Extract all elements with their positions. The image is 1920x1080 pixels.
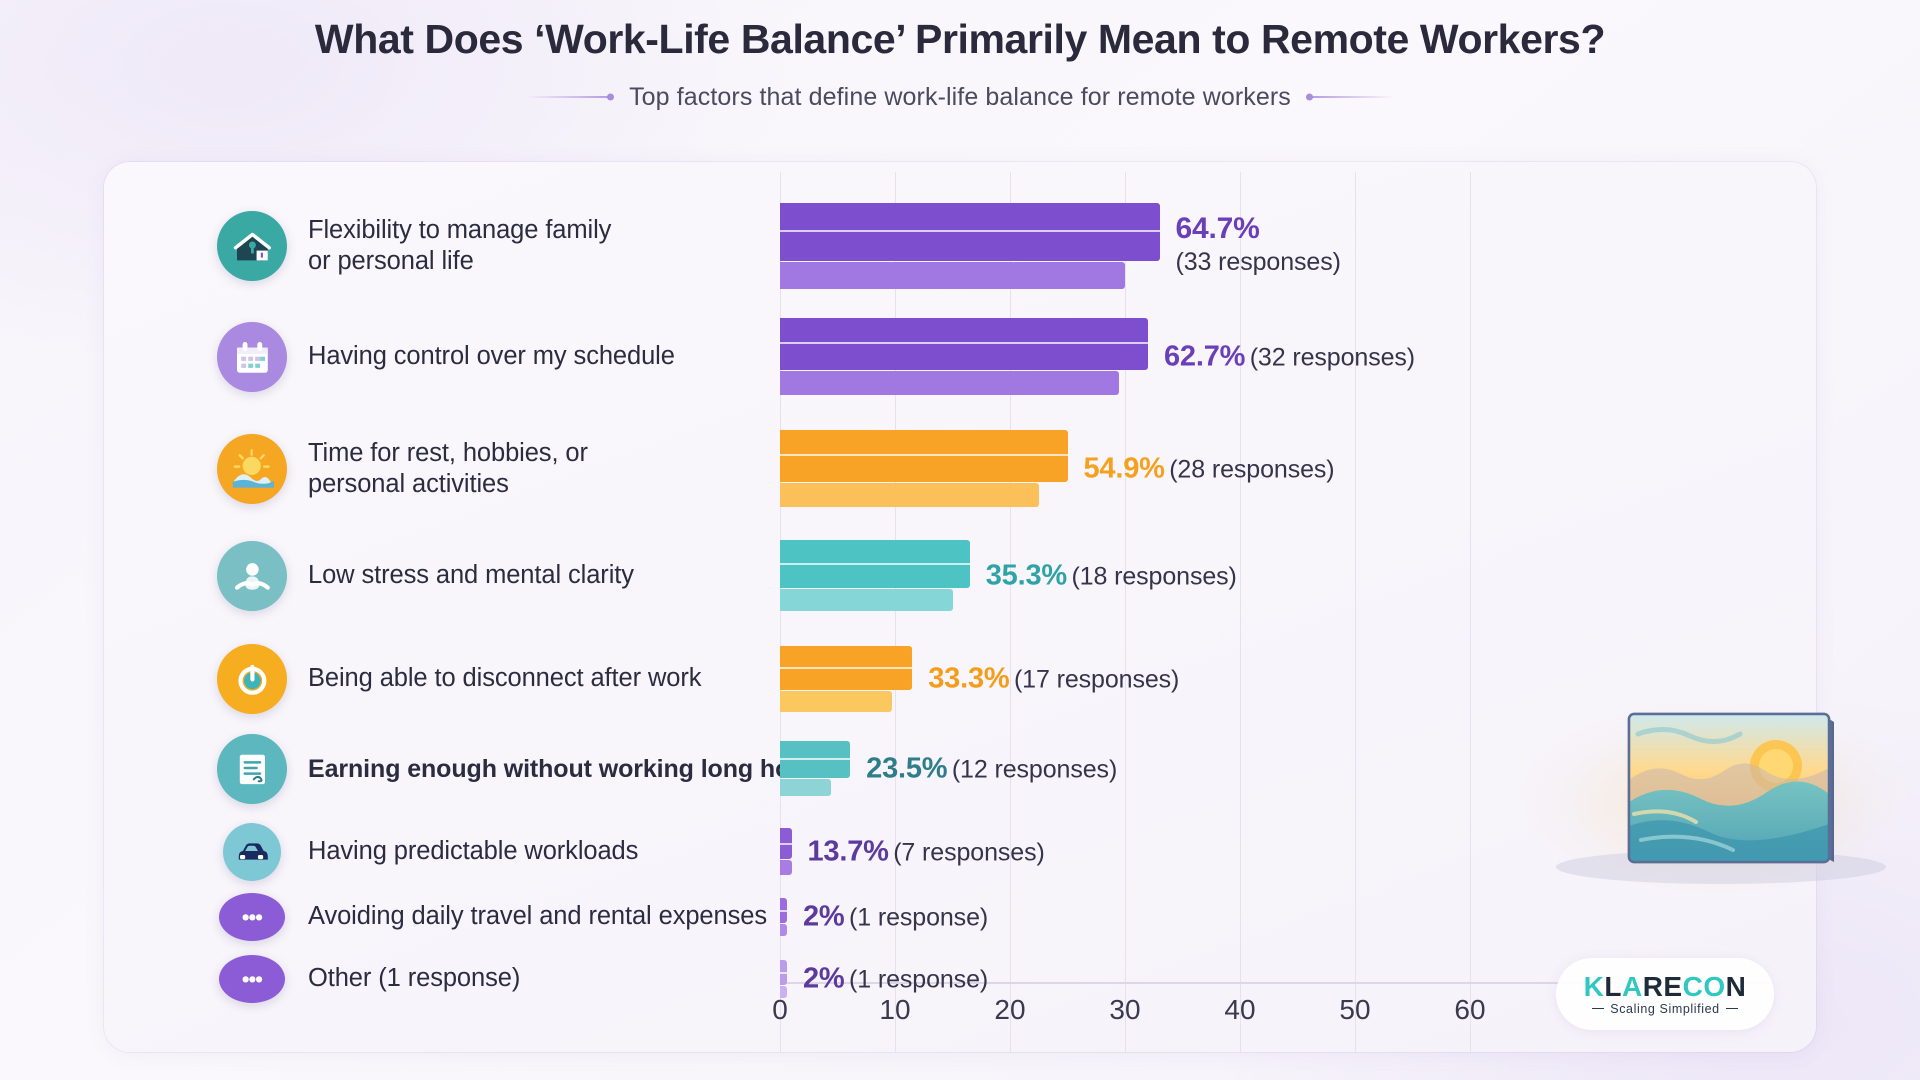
row-icon-wrapper bbox=[216, 738, 288, 800]
bar-secondary bbox=[780, 924, 787, 936]
row-value-label: 2% (1 response) bbox=[803, 901, 988, 934]
power-button-icon bbox=[217, 644, 287, 714]
bar-primary bbox=[780, 318, 1148, 370]
logo-tagline-text: Scaling Simplified bbox=[1610, 1002, 1719, 1016]
chart-subtitle: Top factors that define work-life balanc… bbox=[629, 83, 1291, 112]
row-bar-group bbox=[780, 738, 781, 800]
bar-primary bbox=[780, 430, 1068, 482]
ellipsis-icon bbox=[219, 893, 285, 941]
bar-secondary bbox=[780, 860, 792, 875]
subtitle-rule-left-icon bbox=[525, 96, 611, 98]
bar-split-line-icon bbox=[780, 563, 970, 565]
bar-split-line-icon bbox=[780, 667, 912, 669]
row-bar-group bbox=[780, 826, 781, 878]
chart-row: Avoiding daily travel and rental expense… bbox=[104, 896, 1816, 938]
row-value-label: 62.7% (32 responses) bbox=[1164, 341, 1415, 374]
row-percentage: 2% bbox=[803, 901, 845, 933]
bar-secondary bbox=[780, 691, 892, 712]
row-response-count: (17 responses) bbox=[1014, 666, 1179, 694]
page-title: What Does ‘Work-Life Balance’ Primarily … bbox=[0, 16, 1920, 64]
row-value-label: 23.5% (12 responses) bbox=[866, 753, 1117, 786]
x-axis-tick-20: 20 bbox=[994, 994, 1025, 1026]
row-bar-group bbox=[780, 426, 781, 512]
row-percentage: 33.3% bbox=[928, 663, 1009, 695]
chart-header: What Does ‘Work-Life Balance’ Primarily … bbox=[0, 0, 1920, 112]
row-percentage: 64.7% bbox=[1176, 212, 1341, 246]
row-percentage: 2% bbox=[803, 963, 845, 995]
subtitle-row: Top factors that define work-life balanc… bbox=[0, 83, 1920, 112]
bar-split-line-icon bbox=[780, 910, 787, 912]
row-label: Other (1 response) bbox=[308, 963, 520, 994]
chart-row: Flexibility to manage family or personal… bbox=[104, 198, 1816, 294]
row-label: Time for rest, hobbies, or personal acti… bbox=[308, 438, 588, 500]
bar-secondary bbox=[780, 483, 1039, 507]
row-value-label: 13.7% (7 responses) bbox=[808, 836, 1045, 869]
row-response-count: (32 responses) bbox=[1250, 344, 1415, 372]
bar-secondary bbox=[780, 371, 1119, 395]
bar-secondary bbox=[780, 589, 953, 611]
row-percentage: 23.5% bbox=[866, 753, 947, 785]
bar-split-line-icon bbox=[780, 342, 1148, 344]
document-icon bbox=[217, 734, 287, 804]
car-icon bbox=[223, 823, 281, 881]
row-bar-group bbox=[780, 198, 781, 294]
row-label: Low stress and mental clarity bbox=[308, 560, 634, 591]
row-icon-wrapper bbox=[216, 896, 288, 938]
chart-row: Having control over my schedule 62.7% (3… bbox=[104, 314, 1816, 400]
row-bar-group bbox=[780, 896, 781, 938]
row-icon-wrapper bbox=[216, 314, 288, 400]
bar-primary bbox=[780, 203, 1160, 261]
row-icon-wrapper bbox=[216, 536, 288, 616]
row-label: Having predictable workloads bbox=[308, 836, 638, 867]
row-icon-wrapper bbox=[216, 198, 288, 294]
chart-row: Low stress and mental clarity 35.3% (18 … bbox=[104, 536, 1816, 616]
row-value-label: 2% (1 response) bbox=[803, 963, 988, 996]
x-axis-tick-40: 40 bbox=[1224, 994, 1255, 1026]
x-axis-tick-10: 10 bbox=[879, 994, 910, 1026]
logo-dash-left-icon bbox=[1592, 1008, 1604, 1010]
row-bar-group bbox=[780, 314, 781, 400]
bar-secondary bbox=[780, 779, 831, 796]
chart-row: Earning enough without working long hour… bbox=[104, 738, 1816, 800]
logo-wordmark: KLARECON bbox=[1584, 973, 1747, 1001]
chart-rows: Flexibility to manage family or personal… bbox=[104, 176, 1816, 968]
row-response-count: (7 responses) bbox=[893, 839, 1045, 867]
sunrise-icon bbox=[217, 434, 287, 504]
row-value-label: 33.3% (17 responses) bbox=[928, 663, 1179, 696]
row-icon-wrapper bbox=[216, 642, 288, 716]
row-icon-wrapper bbox=[216, 958, 288, 1000]
chart-row: Being able to disconnect after work 33.3… bbox=[104, 642, 1816, 716]
row-percentage: 62.7% bbox=[1164, 341, 1245, 373]
row-percentage: 35.3% bbox=[986, 560, 1067, 592]
row-response-count: (1 response) bbox=[849, 966, 988, 994]
calendar-icon bbox=[217, 322, 287, 392]
home-icon bbox=[217, 211, 287, 281]
bar-split-line-icon bbox=[780, 972, 787, 974]
row-icon-wrapper bbox=[216, 826, 288, 878]
row-label: Being able to disconnect after work bbox=[308, 663, 701, 694]
row-response-count: (1 response) bbox=[849, 904, 988, 932]
row-icon-wrapper bbox=[216, 426, 288, 512]
x-axis-tick-30: 30 bbox=[1109, 994, 1140, 1026]
row-label: Earning enough without working long hour… bbox=[308, 754, 829, 785]
bar-split-line-icon bbox=[780, 454, 1068, 456]
row-response-count: (18 responses) bbox=[1071, 563, 1236, 591]
row-percentage: 54.9% bbox=[1084, 453, 1165, 485]
bar-secondary bbox=[780, 262, 1125, 289]
klarecon-logo: KLARECON Scaling Simplified bbox=[1556, 958, 1774, 1030]
row-label: Flexibility to manage family or personal… bbox=[308, 215, 611, 277]
person-meditation-icon bbox=[217, 541, 287, 611]
row-percentage: 13.7% bbox=[808, 836, 889, 868]
chart-card: Flexibility to manage family or personal… bbox=[104, 162, 1816, 1052]
row-response-count: (33 responses) bbox=[1176, 248, 1341, 277]
row-response-count: (12 responses) bbox=[952, 756, 1117, 784]
logo-dash-right-icon bbox=[1726, 1008, 1738, 1010]
bar-split-line-icon bbox=[780, 758, 850, 760]
row-label: Having control over my schedule bbox=[308, 341, 675, 372]
row-label: Avoiding daily travel and rental expense… bbox=[308, 901, 767, 932]
subtitle-rule-right-icon bbox=[1309, 96, 1395, 98]
row-response-count: (28 responses) bbox=[1169, 456, 1334, 484]
row-value-label: 35.3% (18 responses) bbox=[986, 560, 1237, 593]
row-bar-group bbox=[780, 642, 781, 716]
logo-tagline: Scaling Simplified bbox=[1592, 1002, 1737, 1016]
x-axis-tick-0: 0 bbox=[772, 994, 788, 1026]
bar-split-line-icon bbox=[780, 843, 792, 845]
chart-row: Time for rest, hobbies, or personal acti… bbox=[104, 426, 1816, 512]
row-value-label: 54.9% (28 responses) bbox=[1084, 453, 1335, 486]
ellipsis-icon bbox=[219, 955, 285, 1003]
row-value-label: 64.7%(33 responses) bbox=[1176, 212, 1341, 277]
row-bar-group bbox=[780, 536, 781, 616]
bar-split-line-icon bbox=[780, 230, 1160, 232]
x-axis-tick-50: 50 bbox=[1339, 994, 1370, 1026]
chart-row: Having predictable workloads 13.7% (7 re… bbox=[104, 826, 1816, 878]
x-axis-tick-60: 60 bbox=[1454, 994, 1485, 1026]
